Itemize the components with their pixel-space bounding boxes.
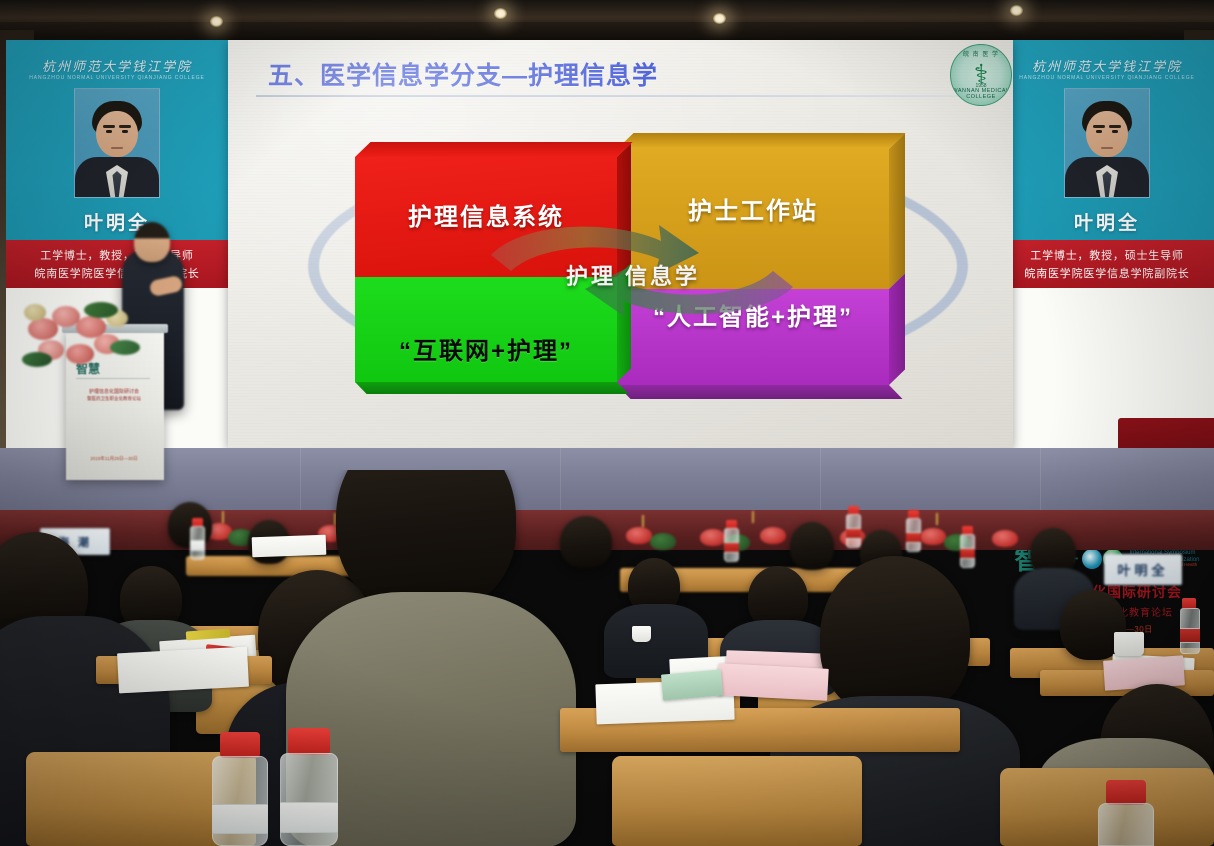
diagram-block-ai-plus-nursing: “人工智能+护理” (617, 289, 889, 385)
ceiling-downlight (210, 16, 223, 27)
portrait-brow-right (1109, 125, 1121, 128)
name-card-text: 叶明全 (1117, 560, 1168, 579)
podium-bouquet (22, 300, 152, 390)
university-logo-cn: 杭州师范大学钱江学院 (6, 56, 228, 75)
audience-head (560, 516, 612, 568)
water-bottle (1180, 598, 1200, 654)
ceiling-downlight (713, 13, 726, 24)
credentials-line-2: 皖南医学院医学信息学院副院长 (1024, 265, 1189, 281)
university-logo-en: HANGZHOU NORMAL UNIVERSITY QIANJIANG COL… (6, 75, 228, 81)
podium-line-2: 暨医药卫生职业化教育论坛 (74, 396, 154, 402)
block-label-internet-plus-nursing: “互联网+护理” (355, 277, 617, 382)
audience-head (336, 470, 516, 612)
block-bottom-face (617, 385, 903, 399)
projection-screen: 五、医学信息学分支—护理信息学 皖 南 医 学 ⚕ 1958 WANNAN ME… (228, 40, 1013, 448)
portrait-face (96, 111, 138, 157)
credentials-line-1: 工学博士，教授，硕士生导师 (1030, 247, 1183, 263)
water-bottle (846, 506, 861, 548)
block-bottom-face (355, 382, 629, 394)
block-top-face (355, 142, 633, 157)
water-bottle (906, 510, 921, 552)
audience-head (790, 522, 834, 570)
handout-paper (717, 663, 829, 701)
portrait-brow-left (103, 125, 115, 128)
portrait-mouth (1101, 147, 1113, 149)
water-bottle (1098, 780, 1154, 846)
speaker-portrait (1064, 88, 1150, 198)
speaker-portrait (74, 88, 160, 198)
paper-cup (632, 626, 651, 642)
water-bottle (212, 732, 268, 846)
diagram-block-internet-plus-nursing: “互联网+护理” (355, 277, 617, 382)
audience-chair (612, 756, 862, 846)
podium-line-3: 2019年11月29日—30日 (74, 456, 154, 462)
presenter-head (134, 222, 170, 262)
water-bottle (960, 526, 975, 568)
paper-cup (1114, 632, 1144, 656)
portrait-eye-right (1112, 130, 1118, 133)
portrait-eye-left (1096, 130, 1102, 133)
block-top-face (617, 133, 906, 149)
nursing-informatics-diagram: 护理信息系统 护士工作站 “互联网+护理” “人工智能+护理” (283, 135, 983, 405)
speaker-name: 叶明全 (1000, 208, 1214, 235)
seal-ring-bottom-text: WANNAN MEDICAL COLLEGE (951, 88, 1011, 100)
portrait-eye-right (122, 130, 128, 133)
title-divider (256, 95, 971, 97)
portrait-mouth (111, 147, 123, 149)
university-logo-en: HANGZHOU NORMAL UNIVERSITY QIANJIANG COL… (1000, 75, 1214, 81)
speaker-panel-right: 杭州师范大学钱江学院 HANGZHOU NORMAL UNIVERSITY QI… (1000, 40, 1214, 460)
ceiling-beam (0, 22, 1214, 42)
portrait-brow-left (1093, 125, 1105, 128)
wannan-medical-college-seal-icon: 皖 南 医 学 ⚕ 1958 WANNAN MEDICAL COLLEGE (950, 44, 1012, 106)
portrait-face (1086, 111, 1128, 157)
panel-white-lower: 智慧 + Intelligence + International Sympos… (1000, 288, 1214, 460)
handout-paper (117, 647, 249, 694)
handout-paper (252, 535, 327, 558)
conference-photo: 杭州师范大学钱江学院 HANGZHOU NORMAL UNIVERSITY QI… (0, 0, 1214, 846)
table-name-card: 叶明全 (1104, 554, 1182, 585)
ceiling-downlight (1010, 5, 1023, 16)
handout-paper (661, 669, 723, 700)
portrait-eye-left (106, 130, 112, 133)
slide-title: 五、医学信息学分支—护理信息学 (268, 56, 658, 92)
water-bottle (724, 520, 739, 562)
university-logo-cn: 杭州师范大学钱江学院 (1000, 56, 1214, 75)
diagram-center-label: 护理 信息学 (283, 259, 983, 291)
speaker-credentials-band: 工学博士，教授，硕士生导师 皖南医学院医学信息学院副院长 (6, 240, 228, 288)
block-side-face (617, 143, 631, 277)
portrait-brow-right (119, 125, 131, 128)
water-bottle (280, 728, 338, 846)
water-bottle (190, 518, 205, 560)
audience-head (820, 556, 970, 716)
diagram-blocks: 护理信息系统 护士工作站 “互联网+护理” “人工智能+护理” (283, 135, 983, 405)
block-label-ai-plus-nursing: “人工智能+护理” (617, 289, 889, 385)
speaker-name: 叶明全 (6, 208, 228, 235)
audience-area: 海 潮 叶明全 (0, 470, 1214, 846)
seal-ring-top-text: 皖 南 医 学 (951, 49, 1011, 58)
ceiling-downlight (494, 8, 507, 19)
speaker-credentials-band: 工学博士，教授，硕士生导师 皖南医学院医学信息学院副院长 (1000, 240, 1214, 288)
